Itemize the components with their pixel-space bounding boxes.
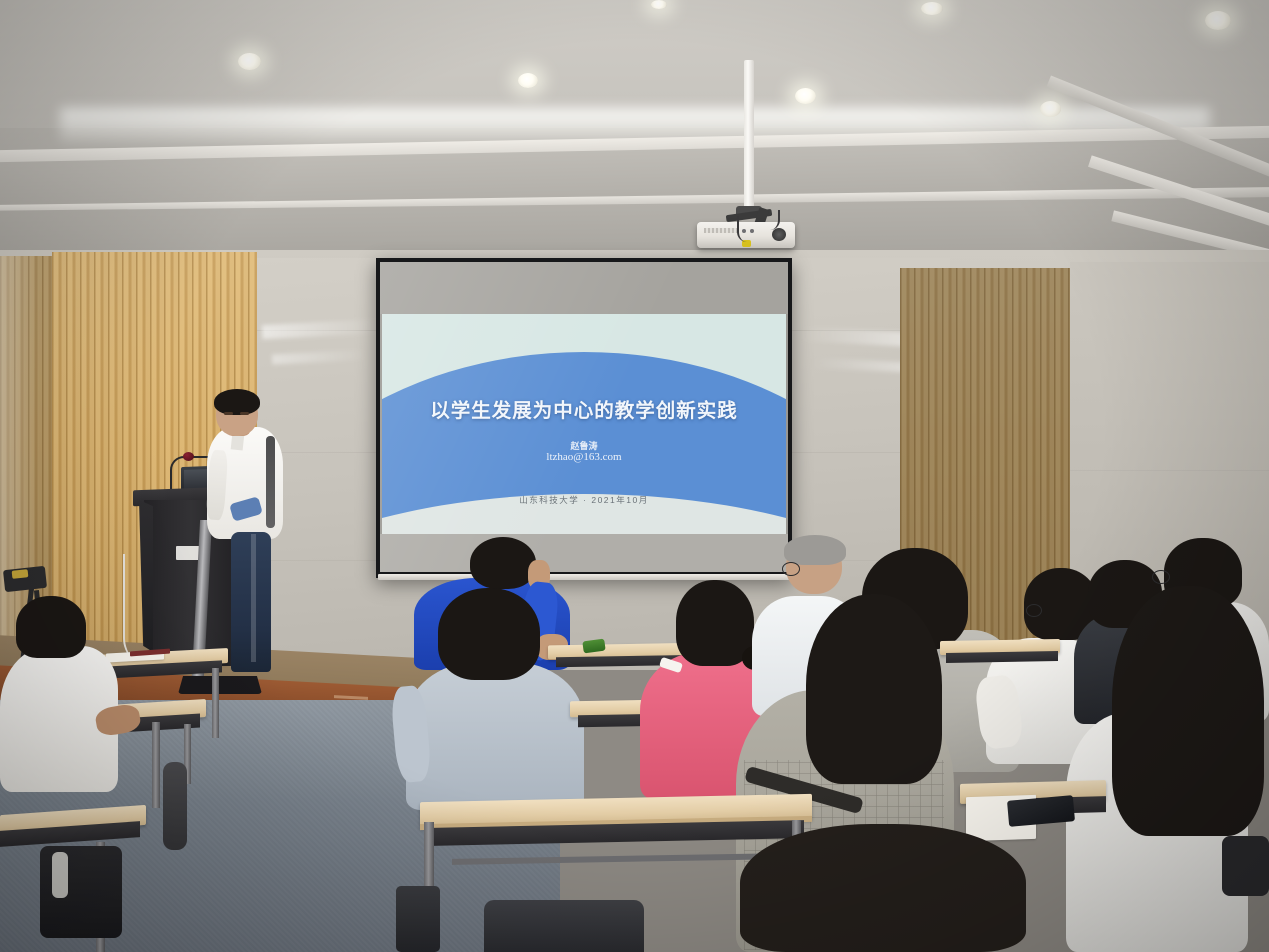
- projector-lens: [772, 228, 786, 241]
- gray-woman-hair: [438, 588, 540, 680]
- wall-seam-right: [1070, 470, 1269, 471]
- lecture-hall-photo: 以学生发展为中心的教学创新实践 赵鲁涛 ltzhao@163.com 山东科技大…: [0, 0, 1269, 952]
- slide-email: ltzhao@163.com: [382, 451, 786, 463]
- podium-base: [178, 676, 262, 694]
- presenter-eye-left: [224, 412, 233, 415]
- projector-mount-pole: [744, 60, 754, 212]
- white-tee-glasses: [1026, 604, 1042, 617]
- slide-title: 以学生发展为中心的教学创新实践: [382, 400, 786, 422]
- glasses-student-glasses: [1152, 570, 1170, 584]
- projector-cable: [737, 216, 753, 242]
- projection-screen: 以学生发展为中心的教学创新实践 赵鲁涛 ltzhao@163.com 山东科技大…: [376, 258, 792, 578]
- downlight-1: [238, 53, 261, 70]
- screen-letterbox-bottom: [380, 534, 788, 572]
- downlight-6: [921, 2, 943, 15]
- downlight-4: [1040, 101, 1061, 117]
- presenter-hair: [214, 389, 260, 415]
- desk-row1-right-apron: [946, 651, 1058, 663]
- chair-center-front: [484, 900, 644, 952]
- microphone-head: [183, 452, 194, 461]
- right-edge-dark-shape: [1222, 836, 1269, 896]
- older-man-hair: [784, 535, 846, 565]
- desk-row2-left-leg: [152, 722, 160, 808]
- presenter-eye-right: [240, 412, 249, 415]
- foreground-hair: [740, 824, 1026, 952]
- audience-left-hair: [16, 596, 86, 658]
- downlight-5: [1205, 11, 1231, 30]
- check-jacket-hair: [806, 594, 942, 784]
- gray-shirt: [406, 662, 584, 810]
- downlight-7: [651, 0, 667, 9]
- screen-letterbox-top: [380, 262, 788, 314]
- screen-bottom-bar: [378, 574, 790, 580]
- smartphone-on-desk: [1007, 795, 1075, 827]
- right-student-hair: [1112, 586, 1264, 836]
- desk-row1-left-leg: [212, 668, 219, 738]
- backpack-strap: [52, 852, 68, 898]
- presenter-trousers-seam: [251, 534, 256, 662]
- camera-lens-ring: [12, 569, 29, 579]
- chair-center-left: [396, 886, 440, 952]
- presenter-shirt-trim: [266, 436, 275, 528]
- screen-surface: 以学生发展为中心的教学创新实践 赵鲁涛 ltzhao@163.com 山东科技大…: [380, 262, 788, 572]
- chair-left: [163, 762, 187, 850]
- older-man-glasses: [782, 562, 800, 576]
- projector-vent: [704, 228, 738, 233]
- blue-man-hair: [470, 537, 536, 589]
- slide-footer: 山东科技大学 · 2021年10月: [382, 494, 786, 506]
- downlight-2: [518, 73, 538, 88]
- slide: 以学生发展为中心的教学创新实践 赵鲁涛 ltzhao@163.com 山东科技大…: [382, 312, 786, 534]
- downlight-3: [795, 88, 816, 104]
